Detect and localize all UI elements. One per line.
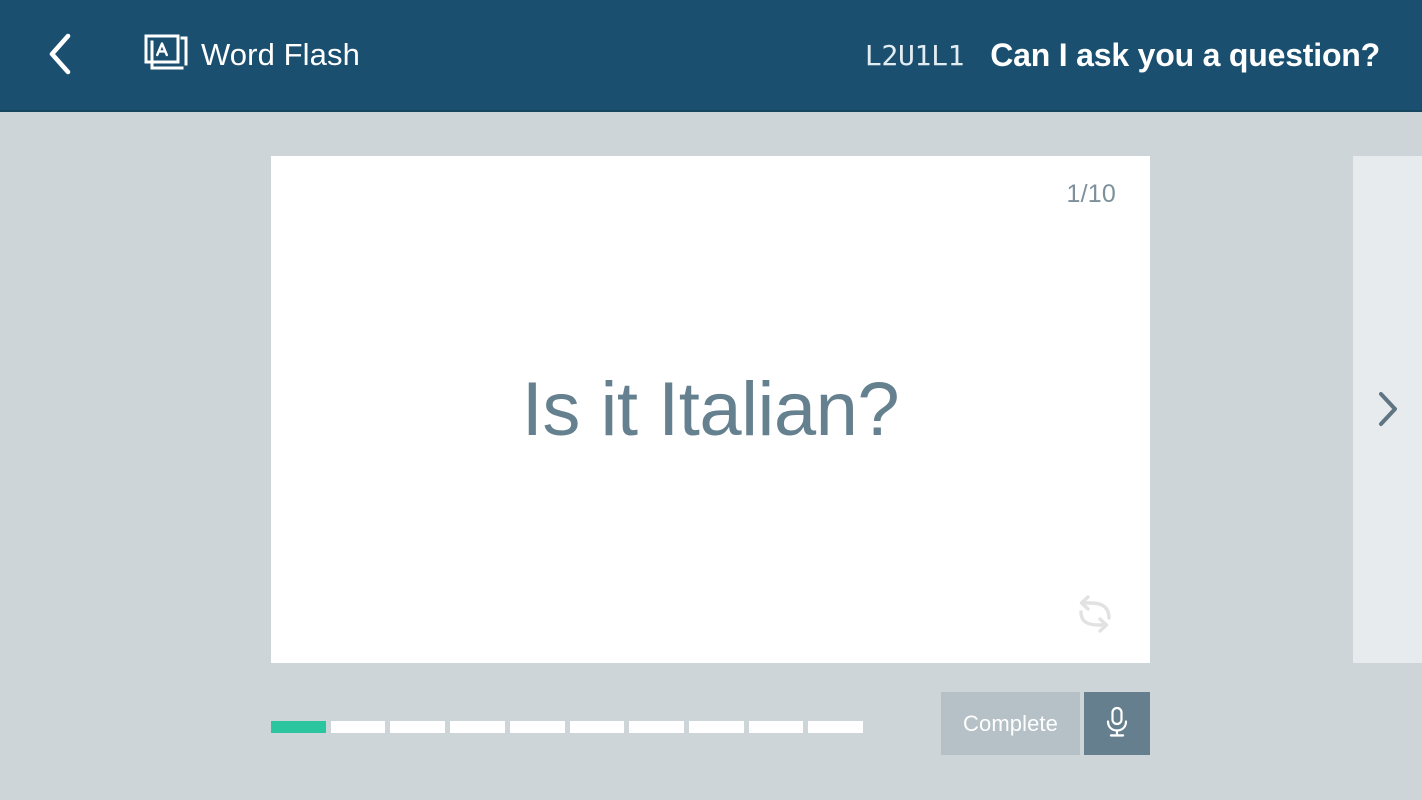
progress-segment [510, 721, 565, 733]
back-button[interactable] [36, 27, 82, 83]
word-flash-app: Word Flash L2U1L1 Can I ask you a questi… [0, 0, 1422, 800]
next-card-button[interactable] [1371, 392, 1405, 430]
microphone-icon [1101, 704, 1133, 743]
progress-segment [331, 721, 386, 733]
flashcard[interactable]: 1/10 Is it Italian? [271, 156, 1150, 663]
progress-segment [570, 721, 625, 733]
flashcard-body: Is it Italian? [271, 156, 1150, 663]
brand-title: Word Flash [201, 37, 360, 73]
brand: Word Flash [140, 32, 360, 79]
chevron-right-icon [1376, 390, 1400, 433]
header-right-group: L2U1L1 Can I ask you a question? [865, 0, 1380, 110]
progress-segment [749, 721, 804, 733]
complete-button[interactable]: Complete [941, 692, 1080, 755]
flip-card-button[interactable] [1068, 589, 1122, 643]
complete-button-label: Complete [963, 711, 1058, 737]
flashcard-stack-icon [140, 32, 192, 79]
progress-segment [271, 721, 326, 733]
progress-segment [390, 721, 445, 733]
progress-bar [271, 721, 863, 733]
progress-segment [689, 721, 744, 733]
lesson-title: Can I ask you a question? [990, 37, 1380, 74]
progress-segment [450, 721, 505, 733]
chevron-left-icon [45, 32, 73, 79]
header-left-group: Word Flash [0, 0, 360, 110]
progress-segment [629, 721, 684, 733]
progress-segment [808, 721, 863, 733]
lesson-code: L2U1L1 [865, 39, 964, 72]
app-header: Word Flash L2U1L1 Can I ask you a questi… [0, 0, 1422, 112]
flashcard-phrase: Is it Italian? [462, 368, 959, 452]
action-buttons: Complete [941, 692, 1150, 755]
microphone-button[interactable] [1084, 692, 1150, 755]
flip-card-icon [1071, 592, 1119, 641]
